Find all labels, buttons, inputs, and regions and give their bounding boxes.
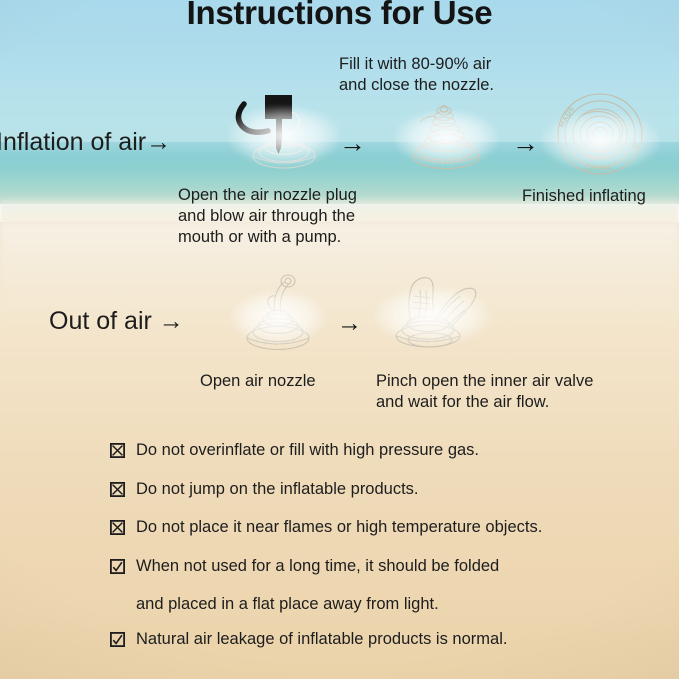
list-item-label: Do not overinflate or fill with high pre… (136, 440, 479, 461)
boxed-check-icon (110, 632, 125, 647)
caption-fill-air: Fill it with 80-90% air and close the no… (339, 54, 494, 96)
right-arrow-icon: → (337, 311, 362, 336)
right-arrow-icon: → (512, 130, 539, 157)
svg-text:MADE: MADE (559, 104, 577, 129)
safety-checklist: Do not overinflate or fill with high pre… (110, 440, 670, 668)
boxed-x-icon (110, 443, 125, 458)
svg-text:CHINA: CHINA (585, 165, 612, 172)
deflation-step-label: Out of air → (49, 307, 184, 336)
sealed-valve-top-view-illustration: MADE IN CHINA (545, 92, 655, 176)
list-item-continuation: and placed in a flat place away from lig… (136, 594, 670, 615)
list-item: When not used for a long time, it should… (110, 556, 670, 577)
instructions-poster: Instructions for Use Inflation of air→ F… (0, 0, 679, 679)
list-item-label: When not used for a long time, it should… (136, 556, 499, 577)
list-item-label: Natural air leakage of inflatable produc… (136, 629, 507, 650)
closed-air-valve-illustration (398, 92, 494, 172)
open-air-nozzle-illustration (234, 272, 322, 352)
caption-open-nozzle-plug: Open the air nozzle plug and blow air th… (178, 185, 357, 248)
right-arrow-icon: → (339, 130, 366, 157)
caption-finished-inflating: Finished inflating (522, 186, 646, 207)
boxed-x-icon (110, 520, 125, 535)
boxed-x-icon (110, 482, 125, 497)
pump-nozzle-in-valve-illustration (232, 86, 336, 172)
list-item: Do not overinflate or fill with high pre… (110, 440, 670, 461)
list-item: Do not place it near flames or high temp… (110, 517, 670, 538)
list-item: Natural air leakage of inflatable produc… (110, 629, 670, 650)
page-title: Instructions for Use (0, 0, 679, 32)
pinch-inner-valve-illustration (378, 266, 486, 352)
inflation-step-label: Inflation of air→ (0, 128, 171, 157)
caption-open-air-nozzle: Open air nozzle (200, 371, 316, 392)
list-item: Do not jump on the inflatable products. (110, 479, 670, 500)
list-item-label: Do not jump on the inflatable products. (136, 479, 419, 500)
list-item-label: Do not place it near flames or high temp… (136, 517, 542, 538)
boxed-check-icon (110, 559, 125, 574)
caption-pinch-inner-valve: Pinch open the inner air valve and wait … (376, 371, 593, 413)
